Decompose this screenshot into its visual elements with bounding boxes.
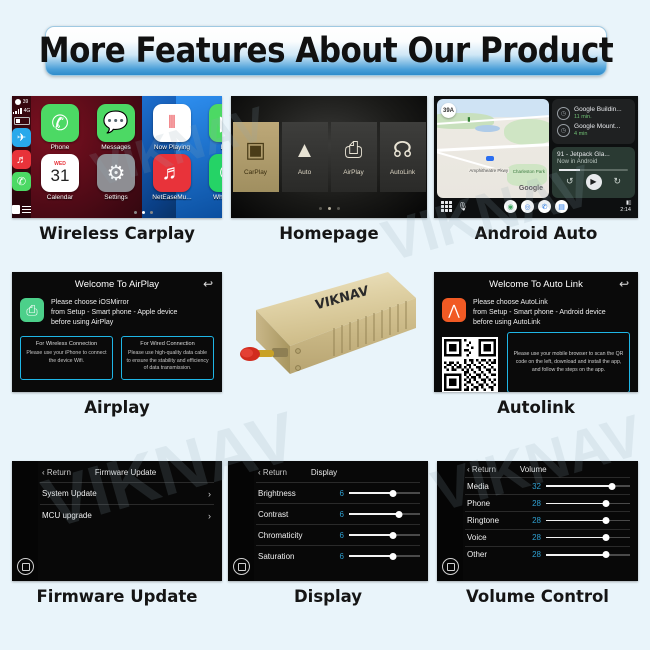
screenshot-display: ‹ Return Display Brightness 6 Contrast 6: [228, 461, 428, 581]
return-label: Return: [47, 468, 71, 477]
qr-code: [442, 337, 498, 392]
screen-title: Firmware Update: [95, 468, 156, 477]
clock-text: 2:14: [620, 207, 631, 213]
homepage-tiles: ▣ CarPlay ▲ Auto ⎙ AirPlay ☊ AutoLink: [233, 122, 426, 192]
airplay-instruction: Please choose iOSMirror from Setup - Sma…: [51, 298, 177, 328]
app-tile[interactable]: ▶ Back: [205, 104, 222, 151]
row-label: Saturation: [258, 552, 326, 561]
return-label: Return: [472, 465, 496, 474]
carplay-box-device: VIKNAV: [238, 250, 420, 400]
app-tile[interactable]: ♬ NetEaseMu...: [149, 154, 195, 201]
map-pin-icon: ▮: [467, 116, 470, 123]
now-playing-icon: ⦀: [153, 104, 191, 142]
row-value: 6: [326, 489, 344, 498]
card-caption: Firmware Update: [12, 587, 222, 606]
media-controls: ↺ ▶ ↻: [557, 174, 630, 190]
card-autolink[interactable]: Welcome To Auto Link ↪ ⋀ Please choose A…: [434, 272, 638, 417]
row-value: 6: [326, 510, 344, 519]
wireless-connection-box: For Wireless Connection Please use your …: [20, 336, 113, 380]
card-homepage[interactable]: ▣ CarPlay ▲ Auto ⎙ AirPlay ☊ AutoLink Ho…: [231, 96, 427, 243]
autolink-icon: ⋀: [442, 298, 466, 322]
carplay-status-network: 4G: [13, 108, 31, 114]
screenshot-airplay: Welcome To AirPlay ↪ ⎙ Please choose iOS…: [12, 272, 222, 392]
map-street-label: Amphitheatre Pkwy: [468, 168, 509, 173]
page-dots: [319, 207, 340, 210]
app-label: NetEaseMu...: [149, 194, 195, 201]
phone-icon[interactable]: ✆: [538, 200, 551, 213]
nav-title: Google Mount...: [574, 123, 620, 131]
rewind-icon[interactable]: ↺: [566, 176, 574, 187]
carplay-menu-button[interactable]: [12, 205, 31, 214]
autolink-screen: Welcome To Auto Link ↪ ⋀ Please choose A…: [434, 272, 638, 392]
carplay-status-temp: 39: [15, 99, 29, 105]
firmware-screen: ‹ Return Firmware Update System Update ›…: [12, 461, 222, 581]
page-dots: [31, 211, 222, 214]
row-label: Brightness: [258, 489, 326, 498]
back-icon: ▶: [209, 104, 222, 142]
nav-eta: 11 min.: [574, 114, 622, 120]
airplay-instruction-block: ⎙ Please choose iOSMirror from Setup - S…: [20, 298, 214, 328]
card-display[interactable]: ‹ Return Display Brightness 6 Contrast 6: [228, 461, 428, 606]
app-label: Settings: [93, 194, 139, 201]
status-signal-icon: ▮▯: [626, 200, 631, 206]
header-banner: More Features About Our Product: [45, 26, 605, 74]
app-label: Messages: [93, 144, 139, 151]
app-tile[interactable]: ✆ WhatsApp: [205, 154, 222, 201]
tile-label: Auto: [298, 169, 311, 176]
box-heading: For Wired Connection: [126, 341, 209, 347]
phone-icon[interactable]: ✆: [12, 172, 31, 191]
app-tile[interactable]: WED 31 Calendar: [37, 154, 83, 201]
map-road: [437, 143, 549, 151]
volume-body: ‹ Return Volume Media 32 Phone 28: [463, 461, 638, 581]
map-location-marker: [486, 156, 494, 161]
airplay-screen: Welcome To AirPlay ↪ ⎙ Please choose iOS…: [12, 272, 222, 392]
home-button[interactable]: [17, 558, 34, 575]
settings-header: ‹ Return Firmware Update: [40, 465, 214, 482]
card-volume-control[interactable]: ‹ Return Volume Media 32 Phone 28: [437, 461, 638, 606]
row-value: 28: [523, 499, 541, 508]
settings-row[interactable]: Brightness 6: [256, 482, 420, 503]
carplay-app-grid: ✆ Phone 💬 Messages ⦀ Now Playing ▶ Back: [31, 96, 222, 218]
settings-rail: [437, 461, 463, 581]
row-label: Contrast: [258, 510, 326, 519]
telegram-icon[interactable]: ✈: [12, 128, 31, 147]
row-label: System Update: [42, 489, 97, 498]
aa-bottom-bar: 🎙 ◉ ◎ ✆ ▤ ▮▯ 2:14: [437, 198, 635, 215]
card-caption: Airplay: [12, 398, 222, 417]
calendar-icon: WED 31: [41, 154, 79, 192]
app-label: WhatsApp: [205, 194, 222, 201]
nav-item[interactable]: ◷ Google Mount... 4 min: [557, 123, 630, 137]
app-tile[interactable]: ⚙ Settings: [93, 154, 139, 201]
back-arrow-icon[interactable]: ↪: [619, 277, 629, 291]
settings-row[interactable]: Contrast 6: [256, 503, 420, 524]
card-caption: Homepage: [231, 224, 427, 243]
device-photo: VIKNAV: [238, 250, 420, 400]
slider[interactable]: [546, 482, 630, 490]
media-title: 91 - Jetpack Gla...: [557, 151, 630, 158]
map-green-area: [504, 119, 550, 145]
tile-airplay[interactable]: ⎙ AirPlay: [331, 122, 377, 192]
app-tile[interactable]: 💬 Messages: [93, 104, 139, 151]
autolink-icon: ☊: [393, 139, 413, 161]
tile-label: AutoLink: [390, 169, 415, 176]
nav-eta: 4 min: [574, 131, 620, 137]
card-airplay[interactable]: Welcome To AirPlay ↪ ⎙ Please choose iOS…: [12, 272, 222, 417]
slider[interactable]: [546, 551, 630, 559]
app-label: Now Playing: [149, 144, 195, 151]
card-caption: Display: [228, 587, 428, 606]
signal-icon: [13, 108, 22, 114]
aa-right-panel: ◷ Google Buildin... 11 min. ◷ Google Mou…: [552, 99, 635, 198]
display-screen: ‹ Return Display Brightness 6 Contrast 6: [228, 461, 428, 581]
app-label: Phone: [37, 144, 83, 151]
slider[interactable]: [546, 516, 630, 524]
box-body: Please use high-quality data cable to en…: [126, 350, 209, 373]
battery-icon: [14, 117, 30, 125]
tile-label: CarPlay: [244, 169, 267, 176]
slider[interactable]: [349, 510, 420, 518]
airplay-info-boxes: For Wireless Connection Please use your …: [20, 336, 214, 380]
row-value: 28: [523, 550, 541, 559]
chevron-right-icon: ›: [208, 511, 214, 521]
autolink-note: Please use your mobile browser to scan t…: [507, 332, 630, 392]
airplay-title: Welcome To AirPlay: [20, 279, 214, 290]
carplay-app-row: ✆ Phone 💬 Messages ⦀ Now Playing ▶ Back: [37, 104, 222, 151]
media-card[interactable]: 91 - Jetpack Gla... Now in Android ↺ ▶ ↻: [552, 147, 635, 198]
play-icon[interactable]: ▶: [586, 174, 602, 190]
banner-box: More Features About Our Product: [45, 26, 607, 76]
nav-item[interactable]: ◷ Google Buildin... 11 min.: [557, 106, 630, 120]
map-badge: 39A: [441, 103, 456, 118]
screenshot-android-auto: 39A ▮ Amphitheatre Pkwy Charleston Park …: [434, 96, 638, 218]
messages-icon: 💬: [97, 104, 135, 142]
autolink-instruction: Please choose AutoLink from Setup - Smar…: [473, 298, 606, 328]
carplay-icon: ▣: [245, 139, 266, 161]
settings-row[interactable]: System Update ›: [40, 482, 214, 504]
app-tile[interactable]: ✆ Phone: [37, 104, 83, 151]
settings-row[interactable]: Phone 28: [465, 494, 630, 511]
grid-icon: [12, 205, 20, 214]
settings-header: ‹ Return Volume: [465, 463, 630, 477]
map-view[interactable]: 39A ▮ Amphitheatre Pkwy Charleston Park …: [437, 99, 549, 198]
row-value: 28: [523, 516, 541, 525]
airplay-icon: ⎙: [345, 139, 363, 161]
status-clock: ▮▯ 2:14: [620, 200, 631, 213]
google-logo: Google: [519, 185, 543, 192]
carplay-sidebar[interactable]: 39 4G ✈ ♬ ✆: [12, 96, 31, 218]
tile-label: AirPlay: [343, 169, 364, 176]
settings-row[interactable]: Voice 28: [465, 529, 630, 546]
screenshot-carplay: 39 4G ✈ ♬ ✆: [12, 96, 222, 218]
home-button[interactable]: [233, 558, 250, 575]
settings-row[interactable]: Ringtone 28: [465, 511, 630, 528]
screenshot-autolink: Welcome To Auto Link ↪ ⋀ Please choose A…: [434, 272, 638, 392]
tile-auto[interactable]: ▲ Auto: [282, 122, 328, 192]
volume-screen: ‹ Return Volume Media 32 Phone 28: [437, 461, 638, 581]
app-label: Calendar: [37, 194, 83, 201]
back-arrow-icon[interactable]: ↪: [203, 277, 213, 291]
slider[interactable]: [349, 552, 420, 560]
list-icon: [22, 206, 31, 214]
settings-row[interactable]: Media 32: [465, 477, 630, 494]
clock-icon: [15, 99, 21, 105]
settings-icon: ⚙: [97, 154, 135, 192]
chevron-right-icon: ›: [208, 489, 214, 499]
map-park-label: Charleston Park: [513, 169, 545, 174]
tile-autolink[interactable]: ☊ AutoLink: [380, 122, 426, 192]
slider[interactable]: [546, 534, 630, 542]
tile-carplay[interactable]: ▣ CarPlay: [233, 122, 279, 192]
screen-title: Display: [311, 468, 337, 477]
card-caption: Android Auto: [434, 224, 638, 243]
settings-row[interactable]: Other 28: [465, 546, 630, 563]
card-caption: Volume Control: [437, 587, 638, 606]
homepage-screen: ▣ CarPlay ▲ Auto ⎙ AirPlay ☊ AutoLink: [231, 96, 427, 218]
settings-rail: [12, 461, 38, 581]
aa-top-area: 39A ▮ Amphitheatre Pkwy Charleston Park …: [437, 99, 635, 198]
row-label: Other: [467, 550, 523, 559]
row-value: 6: [326, 531, 344, 540]
row-label: MCU upgrade: [42, 511, 92, 520]
card-wireless-carplay[interactable]: 39 4G ✈ ♬ ✆: [12, 96, 222, 243]
android-auto-screen: 39A ▮ Amphitheatre Pkwy Charleston Park …: [434, 96, 638, 218]
card-firmware-update[interactable]: ‹ Return Firmware Update System Update ›…: [12, 461, 222, 606]
autolink-instruction-block: ⋀ Please choose AutoLink from Setup - Sm…: [442, 298, 630, 328]
map-green-area: [507, 164, 547, 186]
slider[interactable]: [349, 489, 420, 497]
return-label: Return: [263, 468, 287, 477]
return-button[interactable]: ‹ Return: [258, 468, 287, 477]
airplay-icon: ⎙: [20, 298, 44, 322]
row-label: Phone: [467, 499, 523, 508]
firmware-body: ‹ Return Firmware Update System Update ›…: [38, 461, 222, 581]
clock-icon: ◷: [557, 124, 570, 137]
media-subtitle: Now in Android: [557, 159, 630, 165]
return-button[interactable]: ‹ Return: [42, 468, 71, 477]
carplay-screen: 39 4G ✈ ♬ ✆: [12, 96, 222, 218]
row-value: 6: [326, 552, 344, 561]
return-button[interactable]: ‹ Return: [467, 465, 496, 474]
wired-connection-box: For Wired Connection Please use high-qua…: [121, 336, 214, 380]
carplay-app-row: WED 31 Calendar ⚙ Settings ♬ NetEaseMu..…: [37, 154, 222, 201]
assistant-icon[interactable]: ◎: [521, 200, 534, 213]
calendar-date: 31: [51, 167, 70, 184]
row-label: Ringtone: [467, 516, 523, 525]
settings-row[interactable]: MCU upgrade ›: [40, 504, 214, 526]
row-label: Media: [467, 482, 523, 491]
settings-row[interactable]: Chromaticity 6: [256, 524, 420, 545]
row-value: 28: [523, 533, 541, 542]
box-body: Please use your iPhone to connect the de…: [25, 350, 108, 365]
screenshot-volume: ‹ Return Volume Media 32 Phone 28: [437, 461, 638, 581]
home-button[interactable]: [442, 558, 459, 575]
map-water: [475, 125, 500, 132]
autolink-bottom: Please use your mobile browser to scan t…: [442, 332, 630, 392]
clock-icon: ◷: [557, 107, 570, 120]
slider[interactable]: [546, 499, 630, 507]
settings-row[interactable]: Saturation 6: [256, 545, 420, 566]
row-label: Voice: [467, 533, 523, 542]
settings-header: ‹ Return Display: [256, 465, 420, 482]
whatsapp-icon: ✆: [209, 154, 222, 192]
box-heading: For Wireless Connection: [25, 341, 108, 347]
nav-title: Google Buildin...: [574, 106, 622, 114]
row-value: 32: [523, 482, 541, 491]
card-caption: Autolink: [434, 398, 638, 417]
media-progress[interactable]: [559, 169, 628, 171]
app-label: Back: [205, 144, 222, 151]
forward-icon[interactable]: ↻: [614, 176, 622, 187]
settings-rail: [228, 461, 254, 581]
phone-icon: ✆: [41, 104, 79, 142]
app-tile[interactable]: ⦀ Now Playing: [149, 104, 195, 151]
screenshot-homepage: ▣ CarPlay ▲ Auto ⎙ AirPlay ☊ AutoLink: [231, 96, 427, 218]
display-body: ‹ Return Display Brightness 6 Contrast 6: [254, 461, 428, 581]
netease-music-icon[interactable]: ♬: [12, 150, 31, 169]
card-android-auto[interactable]: 39A ▮ Amphitheatre Pkwy Charleston Park …: [434, 96, 638, 243]
maps-icon[interactable]: ◉: [504, 200, 517, 213]
screenshot-firmware: ‹ Return Firmware Update System Update ›…: [12, 461, 222, 581]
autolink-title: Welcome To Auto Link: [442, 279, 630, 290]
netease-music-icon: ♬: [153, 154, 191, 192]
page-title: More Features About Our Product: [39, 31, 613, 71]
screen-title: Volume: [520, 465, 547, 474]
apps-icon[interactable]: ▤: [555, 200, 568, 213]
dock-icons: ◉ ◎ ✆ ▤: [437, 200, 635, 213]
row-label: Chromaticity: [258, 531, 326, 540]
card-caption: Wireless Carplay: [12, 224, 222, 243]
android-auto-icon: ▲: [294, 139, 316, 161]
slider[interactable]: [349, 531, 420, 539]
navigation-suggestions: ◷ Google Buildin... 11 min. ◷ Google Mou…: [552, 99, 635, 144]
